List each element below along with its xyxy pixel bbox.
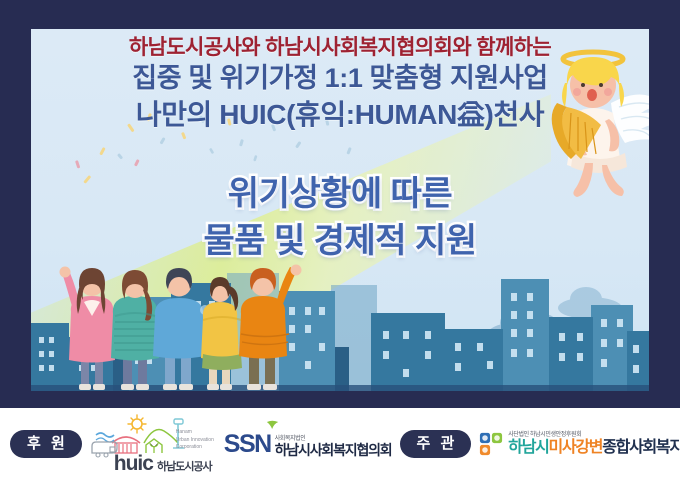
ssn-leaf-icon <box>266 420 280 431</box>
welfare-center-subtitle: 사단법인 하남시민생안정후원회 <box>508 432 680 438</box>
slogan-line1: 위기상황에 따른 <box>31 171 649 218</box>
huic-english-name: Hanam Urban Innovation Corporation <box>176 429 216 452</box>
huic-logo[interactable]: Hanam Urban Innovation Corporation huic … <box>90 413 216 475</box>
people-illustration <box>37 246 327 391</box>
poster-root: 하남도시공사와 하남시사회복지협의회와 함께하는 집중 및 위기가정 1:1 맞… <box>0 0 680 480</box>
welfare-center-name-part2: 미사강변 <box>549 439 603 456</box>
person-1 <box>60 267 116 363</box>
person-4 <box>201 277 242 370</box>
ssn-subtitle: 사회복지법인 <box>275 436 392 442</box>
footer-bar: 후 원 <box>0 408 680 480</box>
welfare-center-mark-icon <box>479 432 503 456</box>
headline-block: 하남도시공사와 하남시사회복지협의회와 함께하는 집중 및 위기가정 1:1 맞… <box>31 35 649 134</box>
poster-stage: 하남도시공사와 하남시사회복지협의회와 함께하는 집중 및 위기가정 1:1 맞… <box>31 29 649 391</box>
welfare-center-name-part3: 종합사회복지관 <box>602 439 680 456</box>
person-3 <box>153 268 210 359</box>
ssn-logo[interactable]: SSN 사회복지법인 하남시사회복지협의회 <box>224 432 392 457</box>
sponsor-badge: 후 원 <box>10 430 82 458</box>
huic-korean-name: 하남도시공사 <box>157 462 212 474</box>
host-badge: 주 관 <box>400 430 472 458</box>
headline-line2: 집중 및 위기가정 1:1 맞춤형 지원사업 <box>31 61 649 97</box>
welfare-center-name-part1: 하남시 <box>508 439 548 456</box>
ssn-wordmark: SSN <box>224 432 271 457</box>
huic-wordmark: huic <box>114 453 153 474</box>
slogan-block: 위기상황에 따른 물품 및 경제적 지원 <box>31 171 649 265</box>
headline-line3: 나만의 HUIC(휴익:HUMAN益)천사 <box>31 97 649 134</box>
headline-line1: 하남도시공사와 하남시사회복지협의회와 함께하는 <box>31 35 649 61</box>
person-5 <box>239 265 302 359</box>
ssn-org-name: 하남시사회복지협의회 <box>275 443 392 457</box>
slogan-line2: 물품 및 경제적 지원 <box>31 218 649 265</box>
welfare-center-logo[interactable]: 사단법인 하남시민생안정후원회 하남시미사강변종합사회복지관 <box>479 432 680 456</box>
welfare-center-name: 하남시미사강변종합사회복지관 <box>508 440 680 456</box>
